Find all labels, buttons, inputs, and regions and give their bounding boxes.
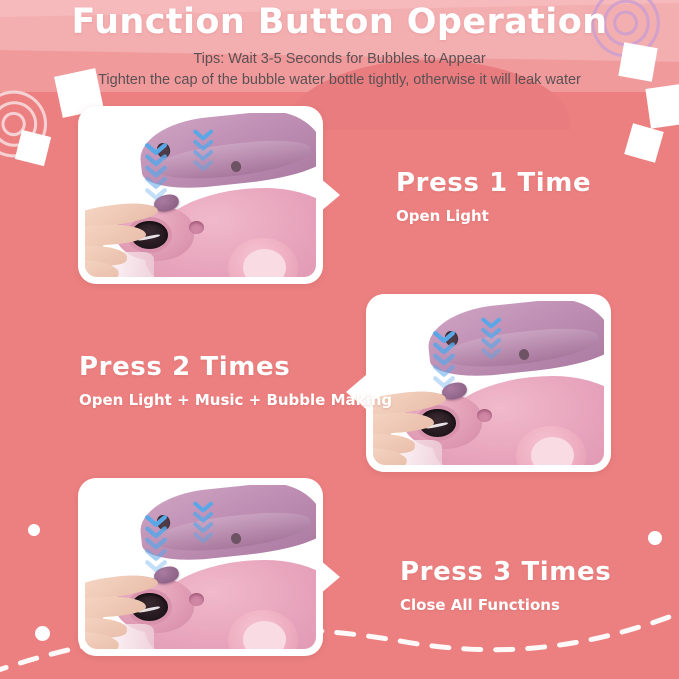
middle-finger (85, 594, 147, 619)
tips-line-1: Tips: Wait 3-5 Seconds for Bubbles to Ap… (0, 49, 679, 70)
step-3-heading: Press 3 Times (400, 557, 611, 587)
step-2-heading: Press 2 Times (79, 352, 392, 382)
photo-inner-step-2 (373, 301, 604, 465)
middle-finger (373, 410, 435, 435)
callout-step-3: Press 3 Times Close All Functions (400, 557, 611, 614)
photo-panel-step-2 (366, 294, 611, 472)
photo-inner-step-3 (85, 485, 316, 649)
product-photo-step-3 (85, 485, 316, 649)
tips-line-2: Tighten the cap of the bubble water bott… (0, 70, 679, 91)
step-1-description: Open Light (396, 207, 591, 225)
hand-pressing-button (85, 575, 177, 649)
callout-pointer-step-3 (320, 560, 340, 594)
middle-finger (85, 222, 147, 247)
light-indicator-arrows-secondary (180, 498, 235, 560)
light-indicator-arrows-secondary (180, 126, 235, 188)
tips-text: Tips: Wait 3-5 Seconds for Bubbles to Ap… (0, 49, 679, 91)
page-title: Function Button Operation (0, 2, 679, 42)
callout-pointer-step-1 (320, 178, 340, 212)
dot-decor (28, 524, 40, 536)
callout-step-2: Press 2 Times Open Light + Music + Bubbl… (79, 352, 392, 409)
step-2-description: Open Light + Music + Bubble Making (79, 391, 392, 409)
hand-pressing-button (85, 203, 177, 277)
product-photo-step-2 (373, 301, 604, 465)
photo-inner-step-1 (85, 113, 316, 277)
product-photo-step-1 (85, 113, 316, 277)
dot-decor (648, 531, 662, 545)
photo-panel-step-1 (78, 106, 323, 284)
photo-panel-step-3 (78, 478, 323, 656)
callout-step-1: Press 1 Time Open Light (396, 168, 591, 225)
light-indicator-arrows-secondary (468, 314, 523, 376)
step-1-heading: Press 1 Time (396, 168, 591, 198)
step-3-description: Close All Functions (400, 596, 611, 614)
